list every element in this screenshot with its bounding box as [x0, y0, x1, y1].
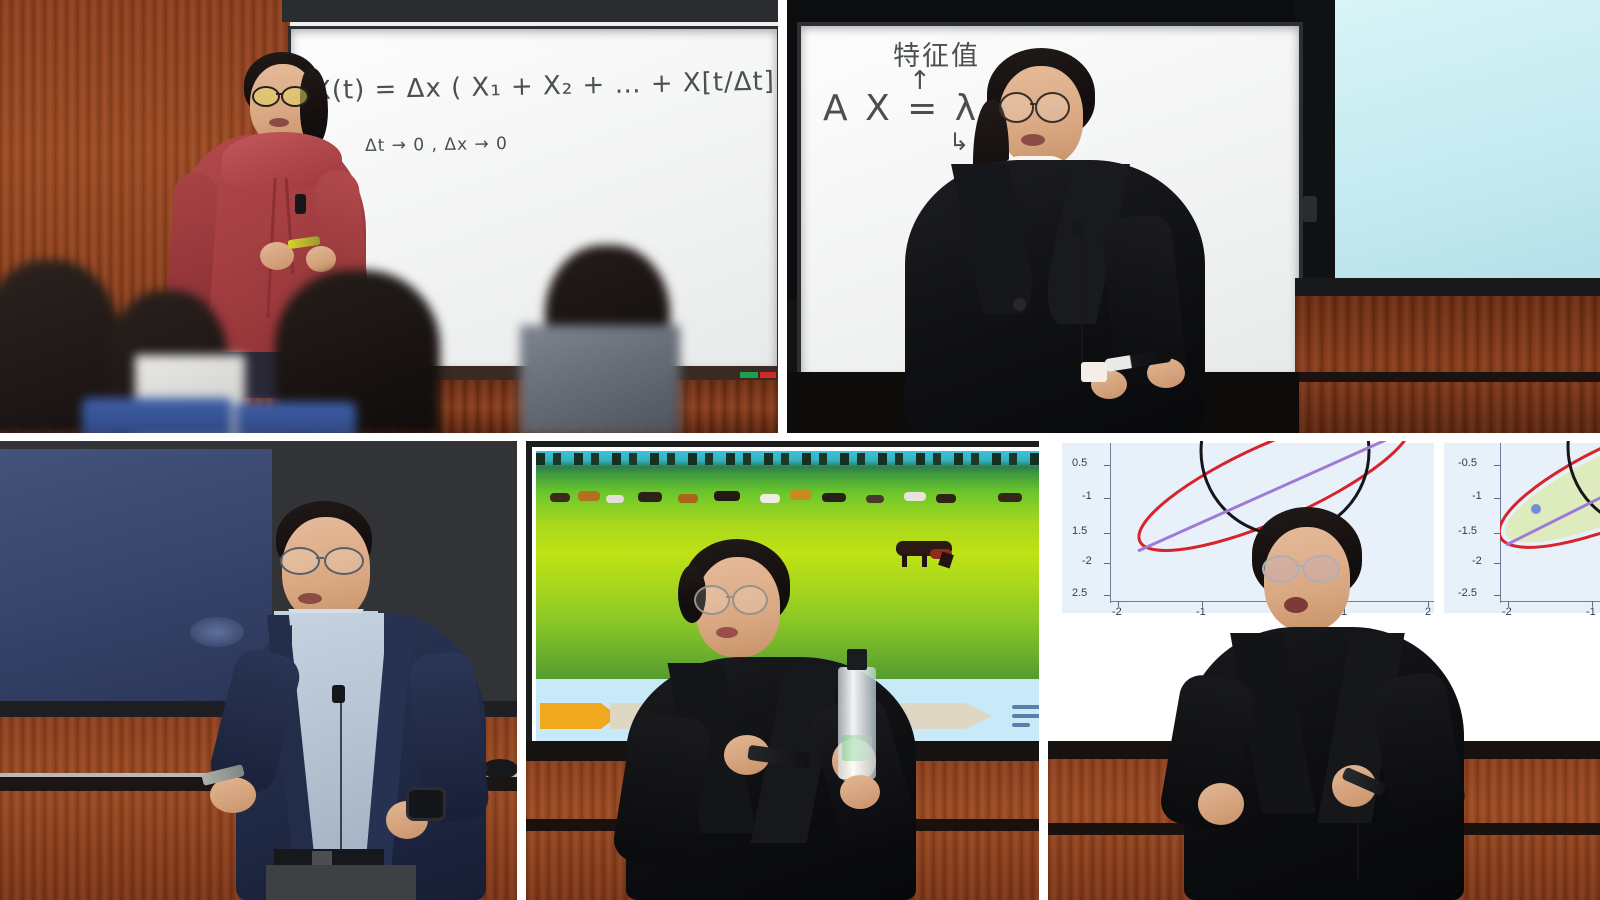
blazer-button: [1013, 298, 1026, 311]
lapel-microphone: [332, 685, 345, 703]
trousers: [266, 865, 416, 900]
water-bottle: [76, 363, 98, 433]
screen-bracket: [1303, 196, 1317, 222]
whiteboard-formula-line1: X(t) = Δx ( X₁ + X₂ + … + X[t/Δt] ).: [313, 66, 778, 106]
text-lines-icon: [1012, 705, 1039, 732]
water-bottle: [700, 361, 724, 433]
contour-plot-right: -0.5 -1 -1.5 -2 -2.5 -2 -1: [1444, 443, 1600, 613]
speaker-grassland: [626, 539, 916, 900]
panel-grassland-slide-talk: [526, 441, 1039, 900]
mouth: [269, 118, 289, 127]
panel-eigenvalue-lecture: 特征值 ↑ A X = λ X ↳ □: [787, 0, 1600, 433]
mouth: [1021, 134, 1045, 146]
plot-right-curves: [1500, 441, 1600, 603]
ceiling-shadow: [282, 0, 778, 22]
projection-screen: [1332, 0, 1600, 288]
panel-math-plot-talk: 0.5 -1 1.5 -2 2.5 -2 -1 1 2: [1048, 441, 1600, 900]
belt-buckle: [312, 851, 332, 865]
shirt-cuff: [1081, 362, 1107, 382]
photo-collage: X(t) = Δx ( X₁ + X₂ + … + X[t/Δt] ). Δt …: [0, 0, 1600, 900]
water-bottles-row: [0, 355, 778, 433]
plot-left-ytick-1: -1: [1082, 490, 1092, 502]
held-water-bottle: [838, 649, 876, 779]
mouth-open: [1284, 597, 1308, 613]
hand-left-raised: [1198, 783, 1244, 825]
speaker-navy-cardigan: [236, 501, 486, 900]
tree-line: [536, 453, 1039, 465]
whiteboard-formula-line2: Δt → 0 , Δx → 0: [365, 134, 508, 156]
hand-right-lower: [840, 775, 880, 809]
speaker-math-plot: [1184, 507, 1464, 900]
plot-right-xtick-0: -2: [1502, 606, 1512, 618]
speaker-eigenvalue: [895, 48, 1215, 433]
projection-screen-dark: [0, 449, 272, 701]
panel-keynote-speaker: [0, 441, 517, 900]
cattle-herd: [536, 489, 1039, 511]
plot-left-xtick-0: -2: [1112, 606, 1122, 618]
plot-left-ytick-3: -2: [1082, 555, 1092, 567]
wristwatch: [406, 787, 446, 821]
microphone-wire: [340, 703, 342, 853]
water-bottle: [508, 373, 532, 433]
plot-right-ytick-3: -2: [1472, 555, 1482, 567]
plot-left-ytick-4: 2.5: [1072, 587, 1087, 599]
plot-right-ytick-1: -1: [1472, 490, 1482, 502]
lapel-microphone: [1073, 220, 1083, 237]
wall-trim: [1295, 372, 1600, 382]
plot-left-ytick-0: 0.5: [1072, 457, 1087, 469]
lapel-microphone: [295, 194, 306, 214]
water-bottle: [443, 355, 467, 431]
wood-wall-lower: [1295, 296, 1600, 433]
mouth: [716, 627, 738, 638]
panel-stochastic-process-lecture: X(t) = Δx ( X₁ + X₂ + … + X[t/Δt] ). Δt …: [0, 0, 778, 433]
plot-right-ytick-0: -0.5: [1458, 457, 1477, 469]
microphone-wire: [1081, 237, 1083, 367]
mouth: [298, 593, 322, 604]
plot-right-xtick-1: -1: [1586, 606, 1596, 618]
plot-left-ytick-2: 1.5: [1072, 525, 1087, 537]
lapel-microphone: [1350, 693, 1360, 709]
